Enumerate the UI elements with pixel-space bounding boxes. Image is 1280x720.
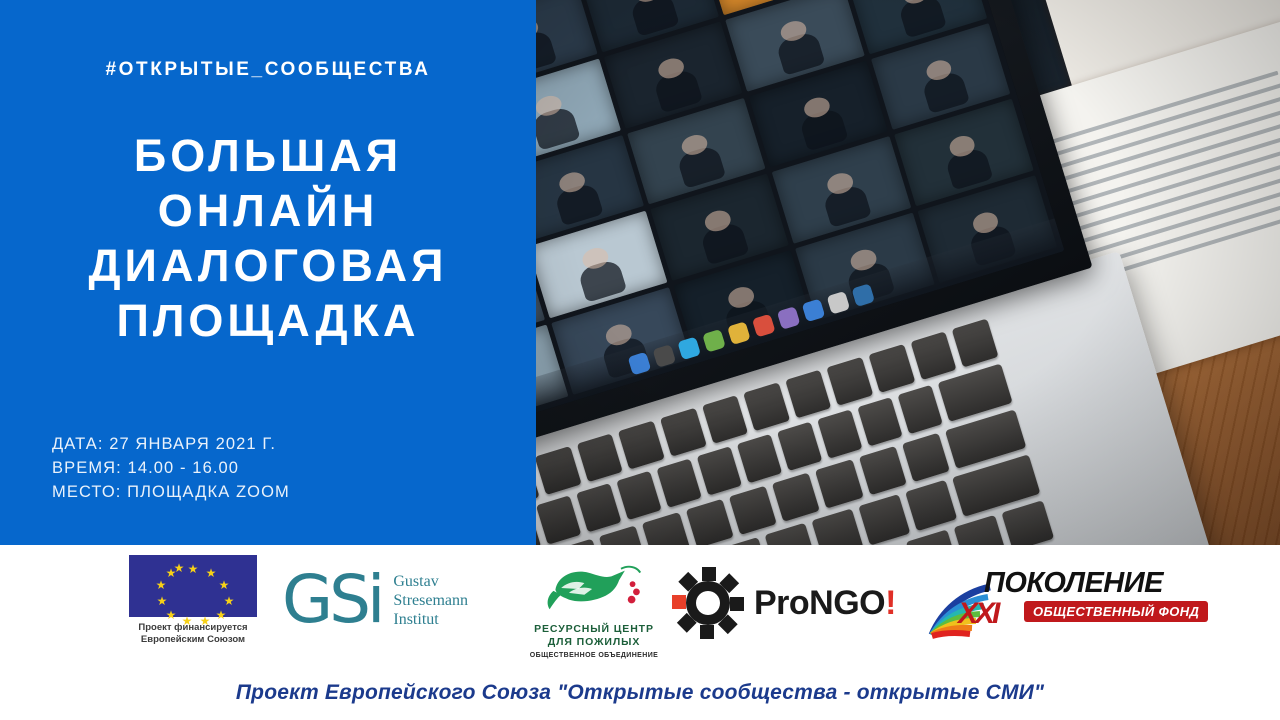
rc-name-line-2: ДЛЯ ПОЖИЛЫХ (518, 636, 670, 649)
event-time: ВРЕМЯ: 14.00 - 16.00 (52, 456, 290, 480)
headline-line-1: БОЛЬШАЯ (0, 128, 536, 183)
logo-prongo: ProNGO! (672, 567, 912, 639)
event-place: МЕСТО: ПЛОЩАДКА ZOOM (52, 480, 290, 504)
pokolenie-name: ПОКОЛЕНИЕ (984, 567, 1163, 600)
gsi-name-line-2: Stresemann (393, 591, 468, 610)
rc-name: РЕСУРСНЫЙ ЦЕНТР ДЛЯ ПОЖИЛЫХ (518, 623, 670, 649)
project-footer: Проект Европейского Союза "Открытые сооб… (0, 665, 1280, 720)
pokolenie-badge: ОБЩЕСТВЕННЫЙ ФОНД (1024, 601, 1208, 622)
logo-gustav-stresemann-institut: GSi Gustav Stresemann Institut (282, 569, 502, 631)
rc-name-line-1: РЕСУРСНЫЙ ЦЕНТР (518, 623, 670, 636)
gsi-name: Gustav Stresemann Institut (393, 572, 468, 629)
pokolenie-century: XXI (958, 597, 997, 631)
eu-flag-icon: ★ ★ ★ ★ ★ ★ ★ ★ ★ ★ ★ ★ (129, 555, 257, 617)
prongo-name: ProNGO (754, 584, 885, 622)
event-details: ДАТА: 27 ЯНВАРЯ 2021 Г. ВРЕМЯ: 14.00 - 1… (52, 432, 290, 504)
top-band: #ОТКРЫТЫЕ_СООБЩЕСТВА БОЛЬШАЯ ОНЛАЙН ДИАЛ… (0, 0, 1280, 545)
gsi-wordmark-icon: GSi (282, 569, 381, 631)
eu-caption-line-2: Европейским Союзом (118, 634, 268, 646)
green-dove-icon (518, 561, 670, 615)
sponsor-logo-strip: ★ ★ ★ ★ ★ ★ ★ ★ ★ ★ ★ ★ Проект финансиру… (0, 545, 1280, 665)
cube-gear-icon (672, 567, 744, 639)
prongo-exclaim: ! (885, 584, 896, 622)
logo-european-union: ★ ★ ★ ★ ★ ★ ★ ★ ★ ★ ★ ★ Проект финансиру… (118, 555, 268, 646)
event-date: ДАТА: 27 ЯНВАРЯ 2021 Г. (52, 432, 290, 456)
gsi-name-line-3: Institut (393, 610, 468, 629)
prongo-wordmark: ProNGO! (754, 584, 896, 623)
event-photo: ZOOM (536, 0, 1280, 545)
logo-resource-center: РЕСУРСНЫЙ ЦЕНТР ДЛЯ ПОЖИЛЫХ ОБЩЕСТВЕННОЕ… (518, 561, 670, 659)
eu-caption: Проект финансируется Европейским Союзом (118, 622, 268, 646)
headline-line-2: ОНЛАЙН (0, 183, 536, 238)
rc-subtitle: ОБЩЕСТВЕННОЕ ОБЪЕДИНЕНИЕ (518, 652, 670, 659)
poster-canvas: #ОТКРЫТЫЕ_СООБЩЕСТВА БОЛЬШАЯ ОНЛАЙН ДИАЛ… (0, 0, 1280, 720)
eu-caption-line-1: Проект финансируется (118, 622, 268, 634)
project-footer-text: Проект Европейского Союза "Открытые сооб… (236, 681, 1044, 705)
event-hashtag: #ОТКРЫТЫЕ_СООБЩЕСТВА (0, 59, 536, 81)
headline-line-3: ДИАЛОГОВАЯ (0, 238, 536, 293)
gsi-name-line-1: Gustav (393, 572, 468, 591)
blue-info-panel: #ОТКРЫТЫЕ_СООБЩЕСТВА БОЛЬШАЯ ОНЛАЙН ДИАЛ… (0, 0, 536, 545)
headline-line-4: ПЛОЩАДКА (0, 293, 536, 348)
event-headline: БОЛЬШАЯ ОНЛАЙН ДИАЛОГОВАЯ ПЛОЩАДКА (0, 128, 536, 348)
